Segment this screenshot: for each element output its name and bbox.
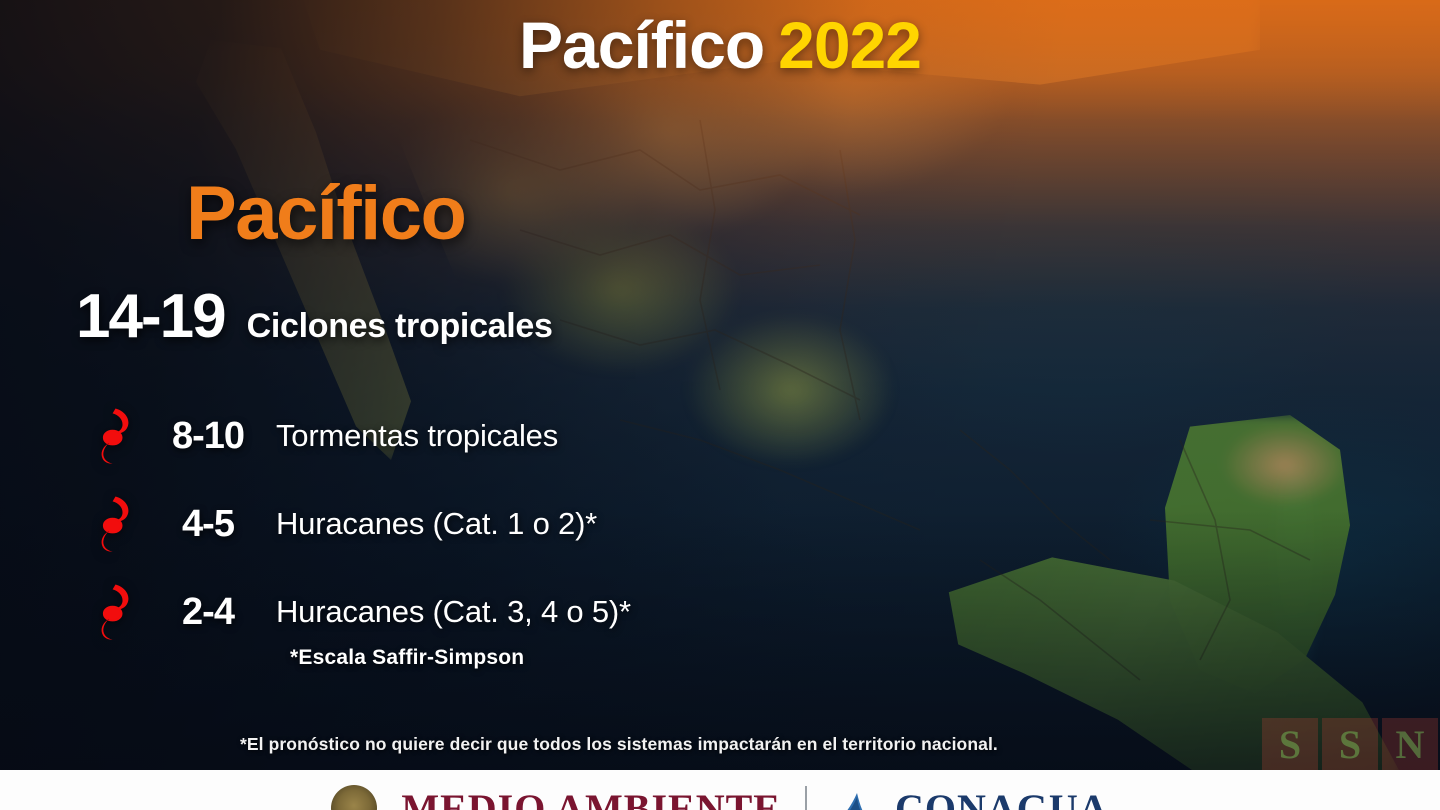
list-item-range: 8-10 — [140, 415, 276, 458]
watermark-letter: N — [1382, 718, 1438, 770]
infographic-canvas: Pacífico2022 Pacífico 14-19 Ciclones tro… — [0, 0, 1440, 810]
list-item-label: Huracanes (Cat. 1 o 2)* — [276, 506, 597, 542]
list-item-range: 4-5 — [140, 503, 276, 546]
footer-divider — [805, 786, 807, 810]
basin-heading: Pacífico — [186, 176, 465, 252]
hurricane-icon — [84, 581, 140, 643]
forecast-disclaimer: *El pronóstico no quiere decir que todos… — [240, 734, 998, 755]
total-cyclones-range: 14-19 — [76, 286, 225, 348]
ssn-watermark: S S N — [1262, 718, 1438, 770]
brand-medio-ambiente: MEDIO AMBIENTE — [401, 785, 781, 810]
list-item: 8-10 Tormentas tropicales — [84, 392, 784, 480]
total-cyclones-row: 14-19 Ciclones tropicales — [76, 286, 553, 348]
page-title-basin: Pacífico — [519, 8, 764, 82]
footer-logos: MEDIO AMBIENTE CONAGUA — [331, 785, 1108, 810]
total-cyclones-label: Ciclones tropicales — [247, 309, 553, 343]
list-item-range: 2-4 — [140, 591, 276, 634]
brand-conagua: CONAGUA — [895, 785, 1109, 810]
conagua-wave-icon — [831, 787, 871, 810]
footer-logo-bar: MEDIO AMBIENTE CONAGUA — [0, 770, 1440, 810]
mexico-eagle-emblem-icon — [331, 785, 377, 810]
hurricane-icon — [84, 493, 140, 555]
list-item-label: Huracanes (Cat. 3, 4 o 5)* — [276, 594, 631, 630]
list-item: 2-4 Huracanes (Cat. 3, 4 o 5)* — [84, 568, 784, 656]
watermark-letter: S — [1262, 718, 1318, 770]
list-item: 4-5 Huracanes (Cat. 1 o 2)* — [84, 480, 784, 568]
hurricane-icon — [84, 405, 140, 467]
watermark-letter: S — [1322, 718, 1378, 770]
page-title: Pacífico2022 — [0, 12, 1440, 78]
page-title-year: 2022 — [778, 8, 921, 82]
list-item-label: Tormentas tropicales — [276, 418, 558, 454]
saffir-simpson-note: *Escala Saffir-Simpson — [290, 646, 524, 670]
forecast-breakdown-list: 8-10 Tormentas tropicales 4-5 Huracanes … — [84, 392, 784, 656]
